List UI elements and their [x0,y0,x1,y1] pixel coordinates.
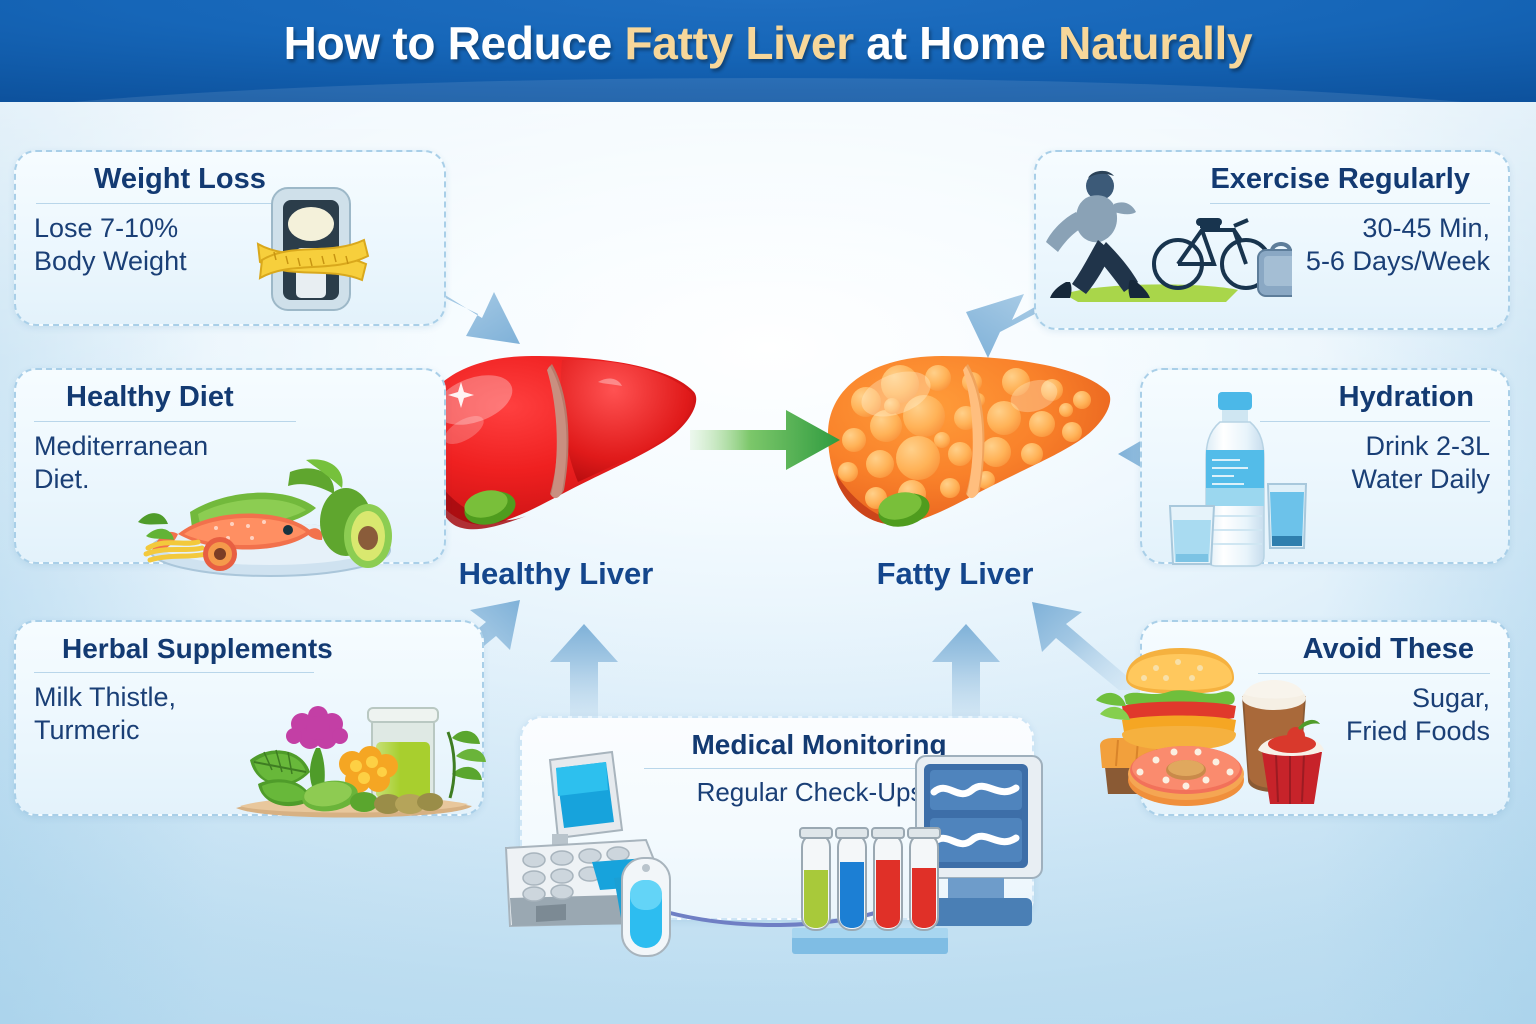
water-bottle-glasses-icon [1164,388,1324,570]
herbs-jar-flowers-icon [206,690,496,830]
infographic-canvas: How to Reduce Fatty Liver at Home Natura… [0,0,1536,1024]
green-right-arrow-icon [690,408,840,472]
title-part-3: at Home [854,17,1058,69]
healthy-liver-illustration [412,348,702,548]
fish-avocado-plate-icon [120,450,410,580]
fatty-liver-illustration [820,348,1120,548]
panel-divider [36,203,286,204]
title-part-4-accent: Naturally [1058,17,1252,69]
panel-herbal-title: Herbal Supplements [34,634,464,663]
weight-scale-tape-measure-icon [252,182,372,322]
burger-donut-junk-food-icon [1086,648,1356,808]
panel-divider [34,421,296,422]
lab-analyzer-test-tubes-monitor-icon [496,730,1056,960]
fatty-liver-label: Fatty Liver [785,556,1125,592]
panel-weight-loss[interactable]: Weight Loss Lose 7-10% Body Weight [14,150,446,326]
panel-healthy-diet-title: Healthy Diet [34,382,426,412]
title-part-2-accent: Fatty Liver [624,17,853,69]
header-banner: How to Reduce Fatty Liver at Home Natura… [0,0,1536,102]
title-part-1: How to Reduce [284,17,625,69]
panel-divider [34,672,314,673]
page-title: How to Reduce Fatty Liver at Home Natura… [0,16,1536,70]
running-man-bicycle-icon [1042,168,1292,308]
